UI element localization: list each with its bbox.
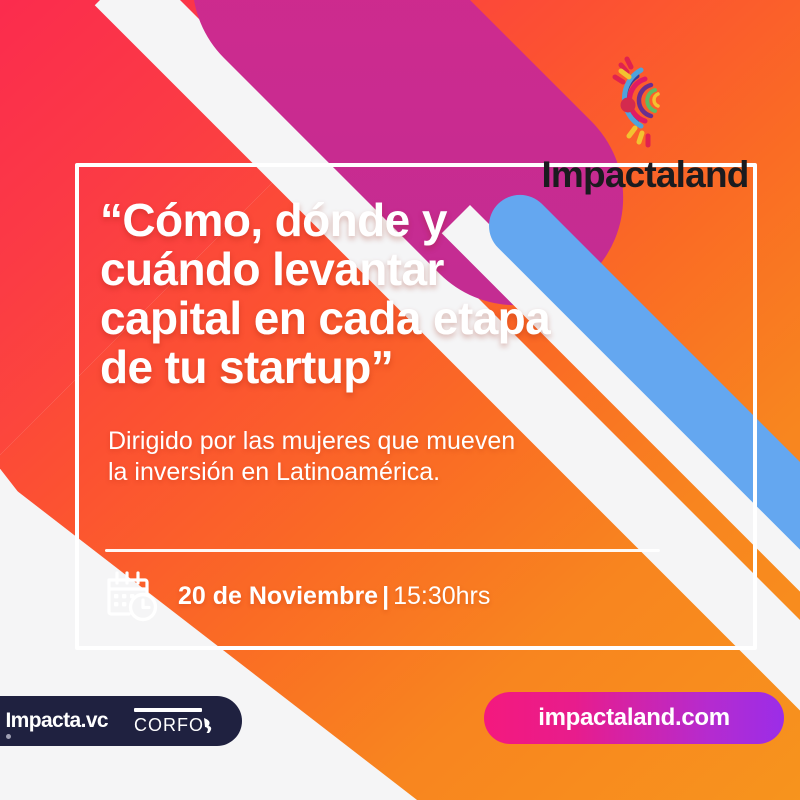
event-separator: | <box>382 582 389 610</box>
event-date-row: 20 de Noviembre|15:30hrs <box>104 568 490 624</box>
corfo-row: CORFO <box>134 716 214 735</box>
subtitle: Dirigido por las mujeres que mueven la i… <box>108 426 528 488</box>
impactaland-radial-arcs-icon <box>595 48 695 148</box>
website-button[interactable]: impactaland.com <box>484 692 784 744</box>
calendar-clock-icon <box>104 568 160 624</box>
sponsor-corfo-label: CORFO <box>134 716 204 735</box>
event-date: 20 de Noviembre <box>178 582 378 610</box>
brand-wordmark: Impactaland <box>520 154 770 196</box>
corfo-flag-icon <box>202 717 214 734</box>
sponsor-impacta-vc-logo: Impacta.vc <box>5 710 108 732</box>
sponsor-bar: Impacta.vc CORFO <box>0 696 242 746</box>
sponsor-impacta-vc-label: Impacta.vc <box>5 710 108 732</box>
brand-logo: Impactaland <box>520 48 770 196</box>
impacta-vc-registered-dot <box>6 734 11 739</box>
divider-line <box>105 549 660 552</box>
event-datetime: 20 de Noviembre|15:30hrs <box>178 582 490 610</box>
event-time: 15:30hrs <box>393 582 490 610</box>
main-content: “Cómo, dónde y cuándo levantar capital e… <box>100 196 700 488</box>
website-button-label: impactaland.com <box>538 704 730 732</box>
headline: “Cómo, dónde y cuándo levantar capital e… <box>100 196 570 392</box>
sponsor-corfo-logo: CORFO <box>134 708 214 735</box>
promotional-poster: Impactaland “Cómo, dónde y cuándo levant… <box>0 0 800 800</box>
corfo-top-bar <box>134 708 202 712</box>
